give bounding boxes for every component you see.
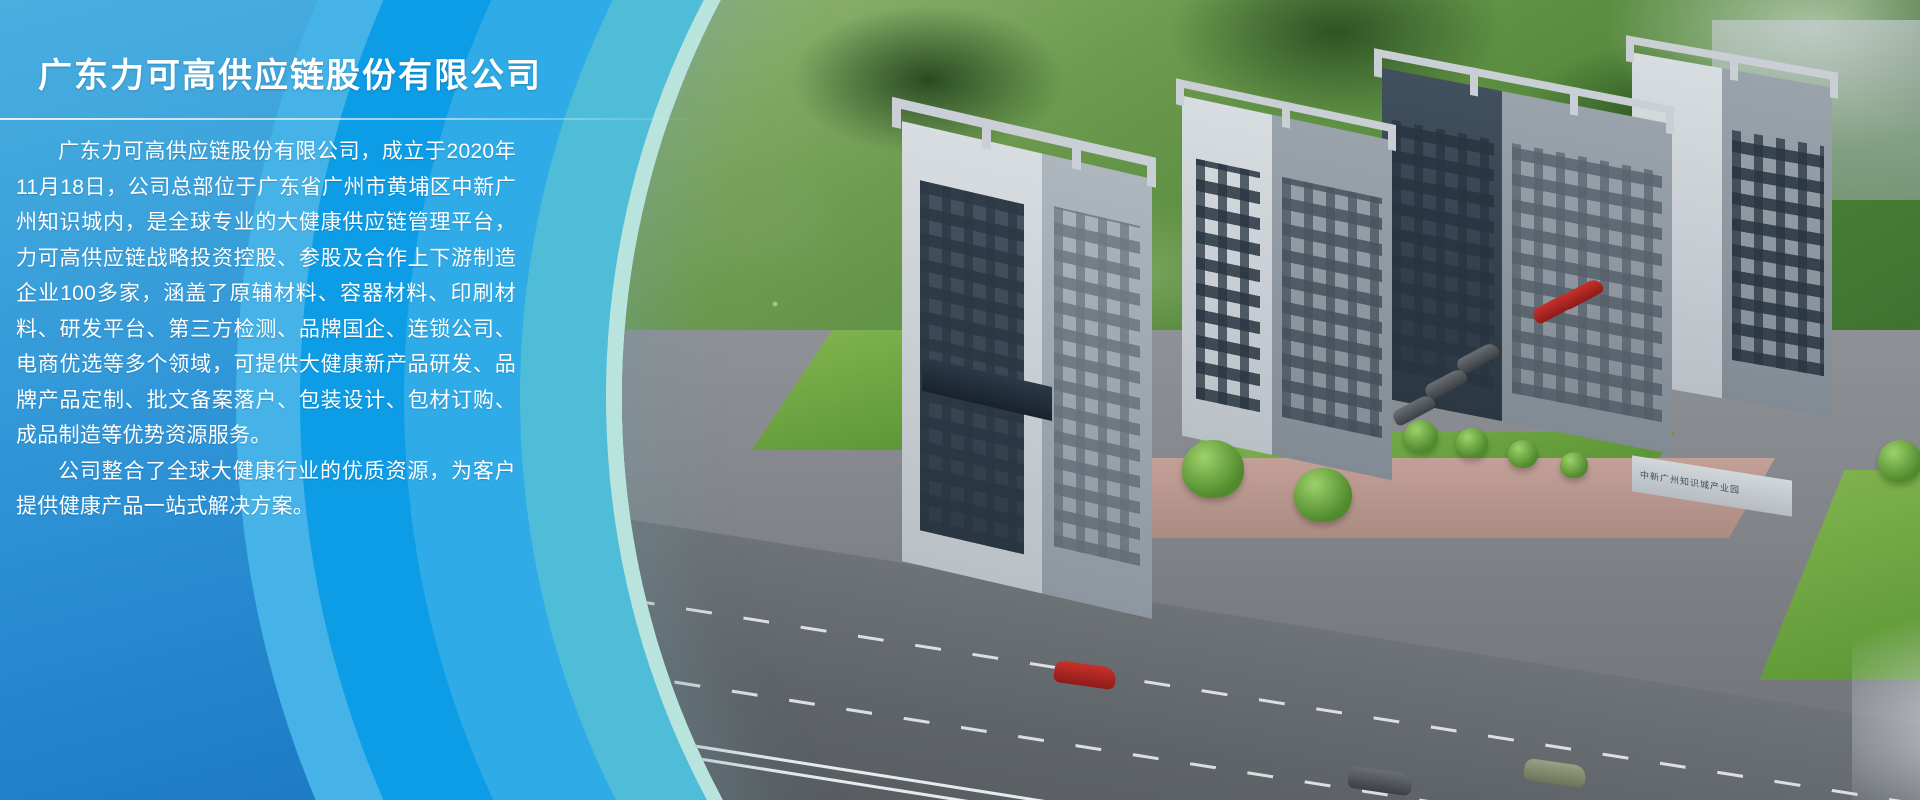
description-paragraph-1: 广东力可高供应链股份有限公司，成立于2020年11月18日，公司总部位于广东省广… bbox=[16, 134, 516, 454]
tree bbox=[1878, 440, 1920, 482]
facility-photo: 中新广州知识城产业园 bbox=[622, 0, 1920, 800]
roof-pergola bbox=[1666, 105, 1674, 135]
road-edge-line bbox=[622, 728, 1912, 800]
roof-pergola bbox=[1470, 67, 1478, 97]
site-sign-text: 中新广州知识城产业园 bbox=[1640, 468, 1740, 497]
page-title: 广东力可高供应链股份有限公司 bbox=[38, 56, 542, 97]
building-block-2 bbox=[1182, 96, 1392, 481]
facility-photo-inner: 中新广州知识城产业园 bbox=[622, 0, 1920, 800]
tree bbox=[1294, 468, 1352, 522]
lane-marking bbox=[622, 672, 1901, 800]
roof-pergola bbox=[1072, 138, 1081, 170]
roof-pergola bbox=[1176, 78, 1184, 106]
window-grid bbox=[1282, 177, 1382, 438]
roof-pergola bbox=[892, 97, 901, 129]
roof-pergola bbox=[1730, 54, 1738, 81]
tree bbox=[1182, 440, 1244, 498]
tree bbox=[1456, 428, 1488, 458]
exhaust-haze bbox=[1852, 600, 1920, 800]
tree bbox=[1508, 440, 1538, 468]
roof-pergola bbox=[1830, 71, 1838, 98]
company-description: 广东力可高供应链股份有限公司，成立于2020年11月18日，公司总部位于广东省广… bbox=[16, 134, 516, 525]
window-grid bbox=[1732, 130, 1824, 376]
roof-pergola bbox=[982, 118, 991, 150]
roof-pergola bbox=[1147, 156, 1156, 188]
roof-pergola bbox=[1374, 48, 1382, 78]
window-grid bbox=[1196, 159, 1260, 413]
title-divider bbox=[0, 118, 700, 120]
window-grid bbox=[1054, 206, 1140, 566]
tree bbox=[1404, 420, 1438, 452]
text-column: 广东力可高供应链股份有限公司 广东力可高供应链股份有限公司，成立于2020年11… bbox=[0, 0, 700, 800]
description-paragraph-2: 公司整合了全球大健康行业的优质资源，为客户提供健康产品一站式解决方案。 bbox=[16, 454, 516, 525]
roof-pergola bbox=[1282, 101, 1290, 129]
company-profile-banner: 中新广州知识城产业园 广东力可高供应链股份有限公司 bbox=[0, 0, 1920, 800]
roof-pergola bbox=[1626, 35, 1634, 62]
tree bbox=[1560, 452, 1588, 478]
roof-pergola bbox=[1570, 86, 1578, 116]
roof-pergola bbox=[1388, 123, 1396, 151]
